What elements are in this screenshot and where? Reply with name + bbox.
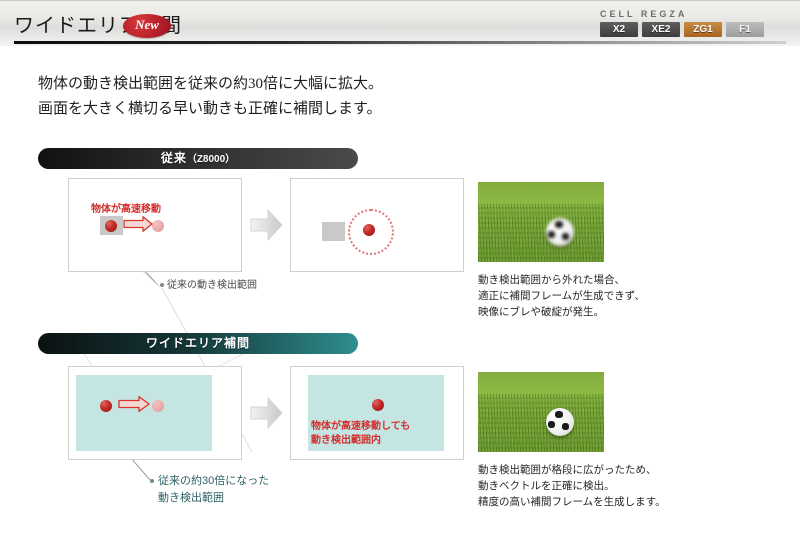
soccer-ball-blurred-icon <box>546 218 574 246</box>
wide-annotation-line-2: 動き検出範囲 <box>158 490 269 507</box>
wide-annotation: 従来の約30倍になった 動き検出範囲 <box>158 473 269 507</box>
wide-annotation-line-1: 従来の約30倍になった <box>158 473 269 490</box>
new-badge-label: New <box>123 17 171 33</box>
wide-annotation-bullet <box>150 479 154 483</box>
wide-caption-line-2: 動きベクトルを正確に検出。 <box>478 478 666 494</box>
wide-in-panel-label-line-1: 物体が高速移動しても <box>311 420 410 434</box>
transition-arrow-icon-wide <box>250 396 283 430</box>
legacy-in-panel-label: 物体が高速移動 <box>91 203 161 217</box>
wide-ball-ghost <box>152 400 164 412</box>
model-button-f1[interactable]: F1 <box>726 22 764 37</box>
legacy-annotation-bullet <box>160 283 164 287</box>
legacy-ball-origin <box>105 220 117 232</box>
section-pill-wide: ワイドエリア補間 <box>38 333 358 354</box>
lead-paragraph: 物体の動き検出範囲を従来の約30倍に大幅に拡大。 画面を大きく横切る早い動きも正… <box>38 72 558 122</box>
wide-detection-area-box <box>76 375 212 451</box>
wide-caption-line-1: 動き検出範囲が格段に広がったため、 <box>478 462 666 478</box>
model-button-zg1[interactable]: ZG1 <box>684 22 722 37</box>
grass-horizon <box>478 182 604 204</box>
brand-label: CELL REGZA <box>600 9 687 19</box>
wide-after-ball <box>372 399 384 411</box>
page-root: ワイドエリア補間 New CELL REGZA X2 XE2 ZG1 F1 物体… <box>0 0 800 541</box>
legacy-ball-ghost <box>152 220 164 232</box>
legacy-after-area-box <box>322 222 345 241</box>
section-pill-legacy: 従来（Z8000） <box>38 148 358 169</box>
legacy-caption-line-1: 動き検出範囲から外れた場合、 <box>478 272 645 288</box>
page-header: ワイドエリア補間 New CELL REGZA X2 XE2 ZG1 F1 <box>0 0 800 46</box>
legacy-caption: 動き検出範囲から外れた場合、 適正に補間フレームが生成できず、 映像にブレや破綻… <box>478 272 645 320</box>
legacy-motion-arrow-icon <box>123 216 153 232</box>
wide-sample-photo <box>478 372 604 452</box>
lead-line-1: 物体の動き検出範囲を従来の約30倍に大幅に拡大。 <box>38 72 558 97</box>
legacy-after-ball <box>363 224 375 236</box>
wide-in-panel-label: 物体が高速移動しても 動き検出範囲内 <box>311 420 410 448</box>
grass-horizon <box>478 372 604 394</box>
wide-motion-arrow-icon <box>118 396 150 412</box>
legacy-sample-photo <box>478 182 604 262</box>
section-pill-wide-title: ワイドエリア補間 <box>146 336 250 350</box>
new-badge: New <box>123 14 171 38</box>
model-selector[interactable]: X2 XE2 ZG1 F1 <box>600 22 764 37</box>
wide-in-panel-label-line-2: 動き検出範囲内 <box>311 434 410 448</box>
soccer-ball-sharp-icon <box>546 408 574 436</box>
legacy-caption-line-3: 映像にブレや破綻が発生。 <box>478 304 645 320</box>
section-pill-legacy-title: 従来 <box>161 151 187 165</box>
wide-caption-line-3: 精度の高い補間フレームを生成します。 <box>478 494 666 510</box>
title-divider <box>14 41 786 44</box>
transition-arrow-icon-legacy <box>250 208 283 242</box>
section-pill-legacy-sub: （Z8000） <box>187 154 235 165</box>
legacy-caption-line-2: 適正に補間フレームが生成できず、 <box>478 288 645 304</box>
wide-caption: 動き検出範囲が格段に広がったため、 動きベクトルを正確に検出。 精度の高い補間フ… <box>478 462 666 510</box>
model-button-xe2[interactable]: XE2 <box>642 22 680 37</box>
wide-ball-origin <box>100 400 112 412</box>
model-button-x2[interactable]: X2 <box>600 22 638 37</box>
legacy-annotation: 従来の動き検出範囲 <box>167 278 257 293</box>
lead-line-2: 画面を大きく横切る早い動きも正確に補間します。 <box>38 97 558 122</box>
